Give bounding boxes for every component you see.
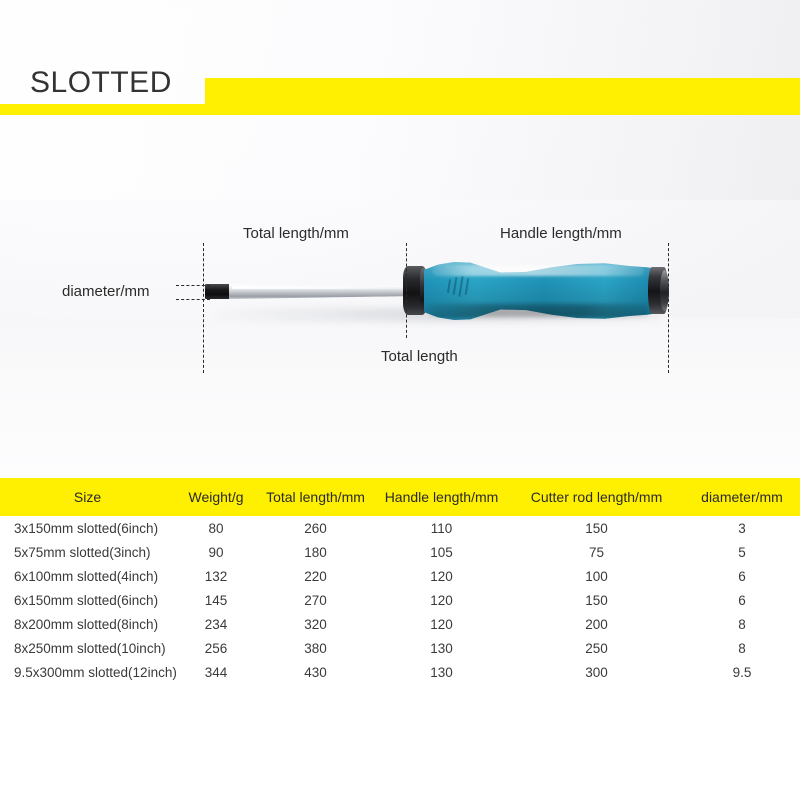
cell-handle-length: 110 [374,516,509,540]
table-row: 8x250mm slotted(10inch) 256 380 130 250 … [0,636,800,660]
cell-diameter: 3 [684,516,800,540]
cell-diameter: 5 [684,540,800,564]
dimension-line-blade-tip [203,243,204,373]
cell-handle-length: 120 [374,588,509,612]
column-header-weight: Weight/g [175,478,257,516]
cell-diameter: 8 [684,612,800,636]
table-row: 5x75mm slotted(3inch) 90 180 105 75 5 [0,540,800,564]
cell-weight: 80 [175,516,257,540]
column-header-total-length: Total length/mm [257,478,374,516]
cell-cutter-rod-length: 300 [509,660,684,684]
annotation-diameter: diameter/mm [62,283,150,301]
table-row: 6x150mm slotted(6inch) 145 270 120 150 6 [0,588,800,612]
table-row: 8x200mm slotted(8inch) 234 320 120 200 8 [0,612,800,636]
table-header-row: Size Weight/g Total length/mm Handle len… [0,478,800,516]
cell-total-length: 320 [257,612,374,636]
dimension-line-handle-start [406,243,407,338]
cell-cutter-rod-length: 75 [509,540,684,564]
table-body: 3x150mm slotted(6inch) 80 260 110 150 3 … [0,516,800,684]
cell-handle-length: 130 [374,636,509,660]
dimension-line-diameter-top [176,285,210,286]
product-photo-area: SLOTTED diameter/mm Total length/mm [0,0,800,478]
cell-total-length: 380 [257,636,374,660]
blade-highlight [232,286,404,289]
screwdriver-illustration [0,0,800,478]
cell-cutter-rod-length: 100 [509,564,684,588]
table-row: 3x150mm slotted(6inch) 80 260 110 150 3 [0,516,800,540]
annotation-handle-length-mm: Handle length/mm [500,225,622,243]
specification-table: Size Weight/g Total length/mm Handle len… [0,478,800,684]
cell-weight: 234 [175,612,257,636]
cell-diameter: 9.5 [684,660,800,684]
handle-shading [430,304,648,317]
cell-diameter: 6 [684,564,800,588]
cell-diameter: 8 [684,636,800,660]
cell-size: 6x150mm slotted(6inch) [0,588,175,612]
cell-size: 5x75mm slotted(3inch) [0,540,175,564]
cell-weight: 145 [175,588,257,612]
cell-weight: 344 [175,660,257,684]
cell-diameter: 6 [684,588,800,612]
blade-tip [205,284,231,299]
dimension-line-handle-end [668,243,669,373]
cell-total-length: 430 [257,660,374,684]
handle-grip-lines [448,275,474,299]
specification-table-wrap: Size Weight/g Total length/mm Handle len… [0,478,800,684]
cell-cutter-rod-length: 150 [509,516,684,540]
table-header: Size Weight/g Total length/mm Handle len… [0,478,800,516]
cell-size: 8x250mm slotted(10inch) [0,636,175,660]
cell-size: 6x100mm slotted(4inch) [0,564,175,588]
cell-handle-length: 120 [374,564,509,588]
column-header-cutter-rod-length: Cutter rod length/mm [509,478,684,516]
cell-total-length: 270 [257,588,374,612]
column-header-handle-length: Handle length/mm [374,478,509,516]
cell-cutter-rod-length: 150 [509,588,684,612]
cell-handle-length: 120 [374,612,509,636]
product-spec-page: SLOTTED diameter/mm Total length/mm [0,0,800,800]
table-row: 9.5x300mm slotted(12inch) 344 430 130 30… [0,660,800,684]
dimension-line-diameter-bottom [176,299,210,300]
cell-size: 8x200mm slotted(8inch) [0,612,175,636]
cell-weight: 132 [175,564,257,588]
cell-weight: 90 [175,540,257,564]
cell-total-length: 180 [257,540,374,564]
cell-size: 3x150mm slotted(6inch) [0,516,175,540]
annotation-total-length: Total length [381,348,458,366]
cell-weight: 256 [175,636,257,660]
table-row: 6x100mm slotted(4inch) 132 220 120 100 6 [0,564,800,588]
cell-total-length: 260 [257,516,374,540]
cell-cutter-rod-length: 200 [509,612,684,636]
blade-shaft [229,281,409,302]
column-header-diameter: diameter/mm [684,478,800,516]
cell-cutter-rod-length: 250 [509,636,684,660]
cell-size: 9.5x300mm slotted(12inch) [0,660,175,684]
column-header-size: Size [0,478,175,516]
cell-handle-length: 130 [374,660,509,684]
annotation-total-length-mm: Total length/mm [243,225,349,243]
cell-total-length: 220 [257,564,374,588]
cell-handle-length: 105 [374,540,509,564]
